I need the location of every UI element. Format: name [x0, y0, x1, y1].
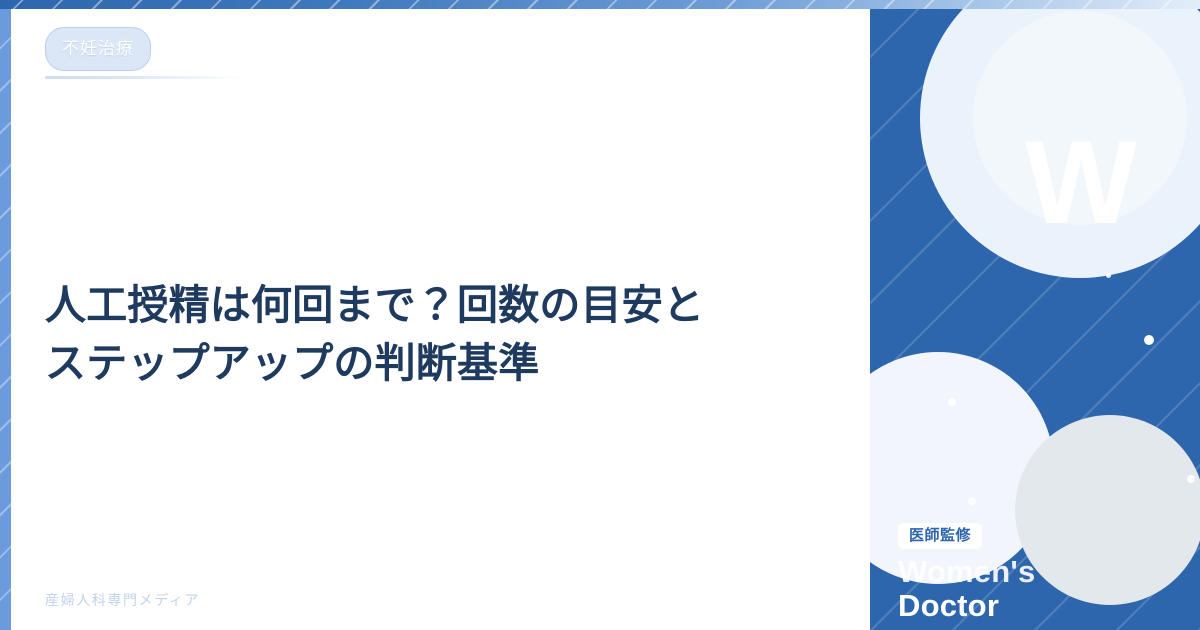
site-tagline: 産婦人科専門メディア	[45, 590, 200, 610]
category-badge-wrapper: 不妊治療	[45, 27, 151, 71]
brand-name: Women's Doctor	[898, 555, 1035, 622]
decorative-dot	[1144, 335, 1154, 345]
decorative-circle-lower-right	[1015, 415, 1200, 605]
decorative-dot	[948, 398, 956, 406]
supervision-badge: 医師監修	[898, 523, 982, 549]
category-underline-rule	[45, 76, 245, 79]
category-badge[interactable]: 不妊治療	[45, 27, 151, 71]
decorative-dot	[1106, 273, 1111, 278]
brand-name-line-2: Doctor	[898, 588, 999, 623]
left-accent-strip	[0, 9, 11, 630]
decorative-dot	[1187, 475, 1195, 483]
brand-panel: W 医師監修 Women's Doctor	[870, 0, 1200, 630]
content-area: 不妊治療 人工授精は何回まで？回数の目安と ステップアップの判断基準 産婦人科専…	[0, 0, 870, 630]
top-accent-bar	[0, 0, 1200, 9]
brand-name-line-1: Women's	[898, 554, 1035, 589]
page-title: 人工授精は何回まで？回数の目安と ステップアップの判断基準	[45, 276, 805, 392]
page-title-line-2: ステップアップの判断基準	[45, 334, 805, 392]
ogp-card: W 医師監修 Women's Doctor 不妊治療 人工授精は何回まで？回数の…	[0, 0, 1200, 630]
brand-lockup: 医師監修 Women's Doctor	[898, 523, 1035, 622]
decorative-dot	[968, 497, 976, 505]
page-title-line-1: 人工授精は何回まで？回数の目安と	[45, 276, 805, 334]
decorative-circle-inner-highlight	[973, 11, 1187, 225]
